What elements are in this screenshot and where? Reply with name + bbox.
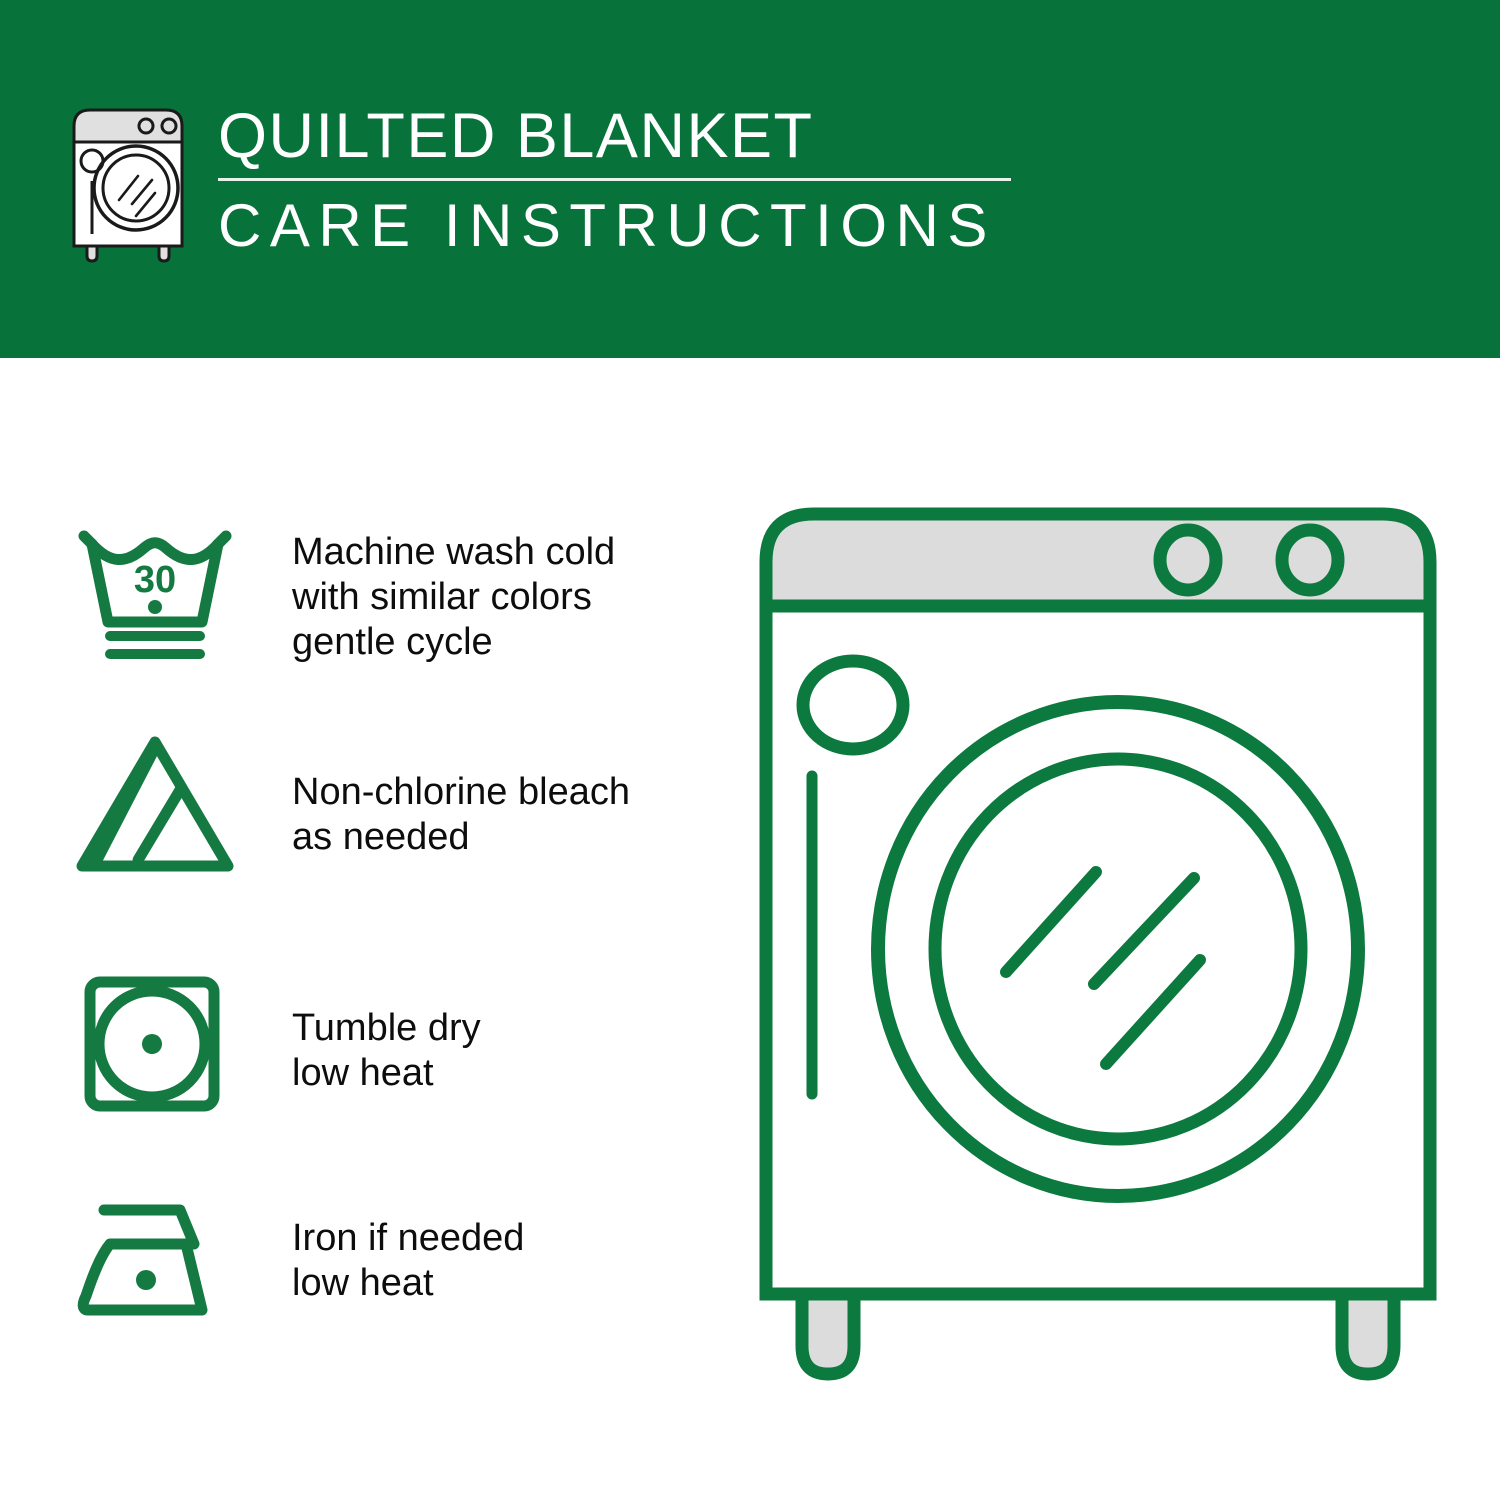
washer-knob-left	[1160, 530, 1216, 590]
care-text-bleach: Non-chlorine bleach as needed	[292, 766, 630, 860]
non-chlorine-bleach-triangle-icon	[70, 726, 240, 876]
detergent-dispenser-icon	[803, 661, 903, 749]
header-divider	[218, 178, 1011, 181]
care-row-bleach: Non-chlorine bleach as needed	[70, 726, 630, 876]
washer-foot-right	[1342, 1294, 1394, 1374]
care-row-tumble-dry: Tumble dry low heat	[70, 968, 481, 1118]
iron-low-heat-icon	[70, 1188, 240, 1338]
washing-machine-icon	[66, 104, 190, 264]
care-text-wash: Machine wash cold with similar colors ge…	[292, 526, 615, 665]
care-instructions-infographic: QUILTED BLANKET CARE INSTRUCTIONS 30 Mac…	[0, 0, 1500, 1500]
wash-temperature-label: 30	[134, 559, 176, 601]
care-text-iron: Iron if needed low heat	[292, 1212, 524, 1306]
care-row-wash: 30 Machine wash cold with similar colors…	[70, 518, 615, 668]
page-title: QUILTED BLANKET	[218, 98, 1018, 174]
washer-foot-left	[802, 1294, 854, 1374]
washer-knob-right	[1282, 530, 1338, 590]
header-banner: QUILTED BLANKET CARE INSTRUCTIONS	[0, 0, 1500, 358]
header-text-block: QUILTED BLANKET CARE INSTRUCTIONS	[218, 98, 1018, 261]
tumble-dry-low-icon	[70, 968, 240, 1118]
wash-tub-30-gentle-icon: 30	[70, 518, 240, 668]
care-row-iron: Iron if needed low heat	[70, 1188, 524, 1338]
page-subtitle: CARE INSTRUCTIONS	[218, 191, 1018, 261]
front-load-washing-machine-illustration	[748, 494, 1448, 1414]
care-text-tumble-dry: Tumble dry low heat	[292, 1002, 481, 1096]
